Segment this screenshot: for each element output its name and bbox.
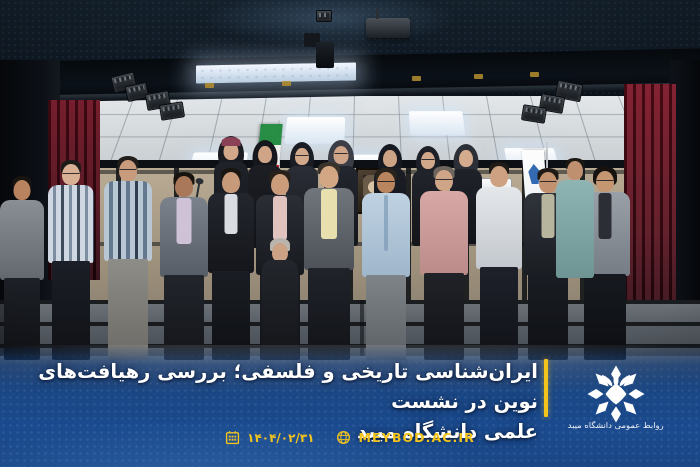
- face: [383, 150, 397, 167]
- dress-shirt: [599, 193, 612, 239]
- university-logo: روابط عمومی دانشگاه میبد: [560, 353, 672, 439]
- plaid-shirt: [48, 185, 94, 263]
- person-front-row: [208, 168, 254, 360]
- glasses: [296, 155, 309, 159]
- dress-shirt: [556, 180, 594, 278]
- dress-shirt: [542, 194, 555, 238]
- glasses: [120, 169, 137, 173]
- person-front-row: [104, 156, 152, 360]
- person-front-row: [304, 162, 354, 360]
- stage-curtain-right: [624, 84, 676, 334]
- website-text: MEYBOD.AC.IR: [358, 430, 474, 445]
- stage-light: [316, 10, 332, 22]
- ceiling-projector: [366, 18, 410, 38]
- face: [271, 174, 289, 195]
- glasses: [436, 179, 453, 183]
- panel-light: [409, 111, 466, 135]
- face: [175, 176, 193, 197]
- person-front-row: [420, 166, 468, 360]
- suit-jacket: [0, 200, 44, 280]
- logo-caption: روابط عمومی دانشگاه میبد: [568, 421, 664, 430]
- website-link[interactable]: MEYBOD.AC.IR: [336, 430, 474, 445]
- body: [262, 260, 298, 358]
- shirt-placket: [384, 195, 388, 251]
- ceiling-bolt: [282, 81, 291, 86]
- person-front-row: [556, 158, 594, 278]
- meybod-university-emblem-icon: [585, 363, 647, 425]
- ceiling-bolt: [474, 74, 483, 79]
- dress-shirt: [321, 189, 337, 239]
- person-front-row: [48, 160, 94, 360]
- ceiling-bolt: [530, 72, 539, 77]
- person-front-row: [160, 172, 208, 360]
- glasses: [335, 153, 348, 157]
- dress-shirt: [476, 187, 522, 269]
- dress-shirt: [225, 194, 238, 234]
- glasses: [540, 181, 557, 185]
- face: [567, 161, 583, 180]
- face: [222, 172, 240, 193]
- dress-shirt: [420, 191, 468, 275]
- face: [490, 166, 508, 187]
- title-banner: ایران‌شناسی تاریخی و فلسفی؛ بررسی رهیافت…: [0, 345, 700, 467]
- ceiling-bolt: [205, 83, 214, 88]
- plaid-shirt: [104, 181, 152, 261]
- hijab-band: [222, 137, 241, 146]
- face: [258, 146, 272, 163]
- accent-bar: [544, 359, 548, 417]
- face: [459, 150, 473, 167]
- person-front-row: [0, 176, 44, 360]
- face: [14, 180, 31, 200]
- ceiling-bolt: [412, 76, 421, 81]
- glasses: [378, 181, 395, 185]
- globe-icon: [336, 430, 351, 445]
- person-front-row: [476, 162, 522, 360]
- person-front-row: [362, 168, 410, 360]
- dress-shirt: [273, 196, 287, 240]
- banner-meta: ۱۴۰۴/۰۲/۳۱ MEYBOD.AC.IR: [0, 430, 700, 445]
- calendar-icon: [225, 430, 240, 445]
- face: [320, 166, 339, 188]
- ceiling-speaker: [316, 42, 334, 68]
- screenshot-root: ایران‌شناسی تاریخی و فلسفی؛ بررسی رهیافت…: [0, 0, 700, 467]
- event-date-text: ۱۴۰۴/۰۲/۳۱: [247, 431, 314, 445]
- event-date: ۱۴۰۴/۰۲/۳۱: [225, 430, 314, 445]
- dress-shirt: [177, 198, 192, 244]
- person-front-row: [262, 238, 298, 358]
- glasses: [63, 173, 80, 177]
- glasses: [597, 180, 614, 184]
- glasses: [422, 159, 435, 163]
